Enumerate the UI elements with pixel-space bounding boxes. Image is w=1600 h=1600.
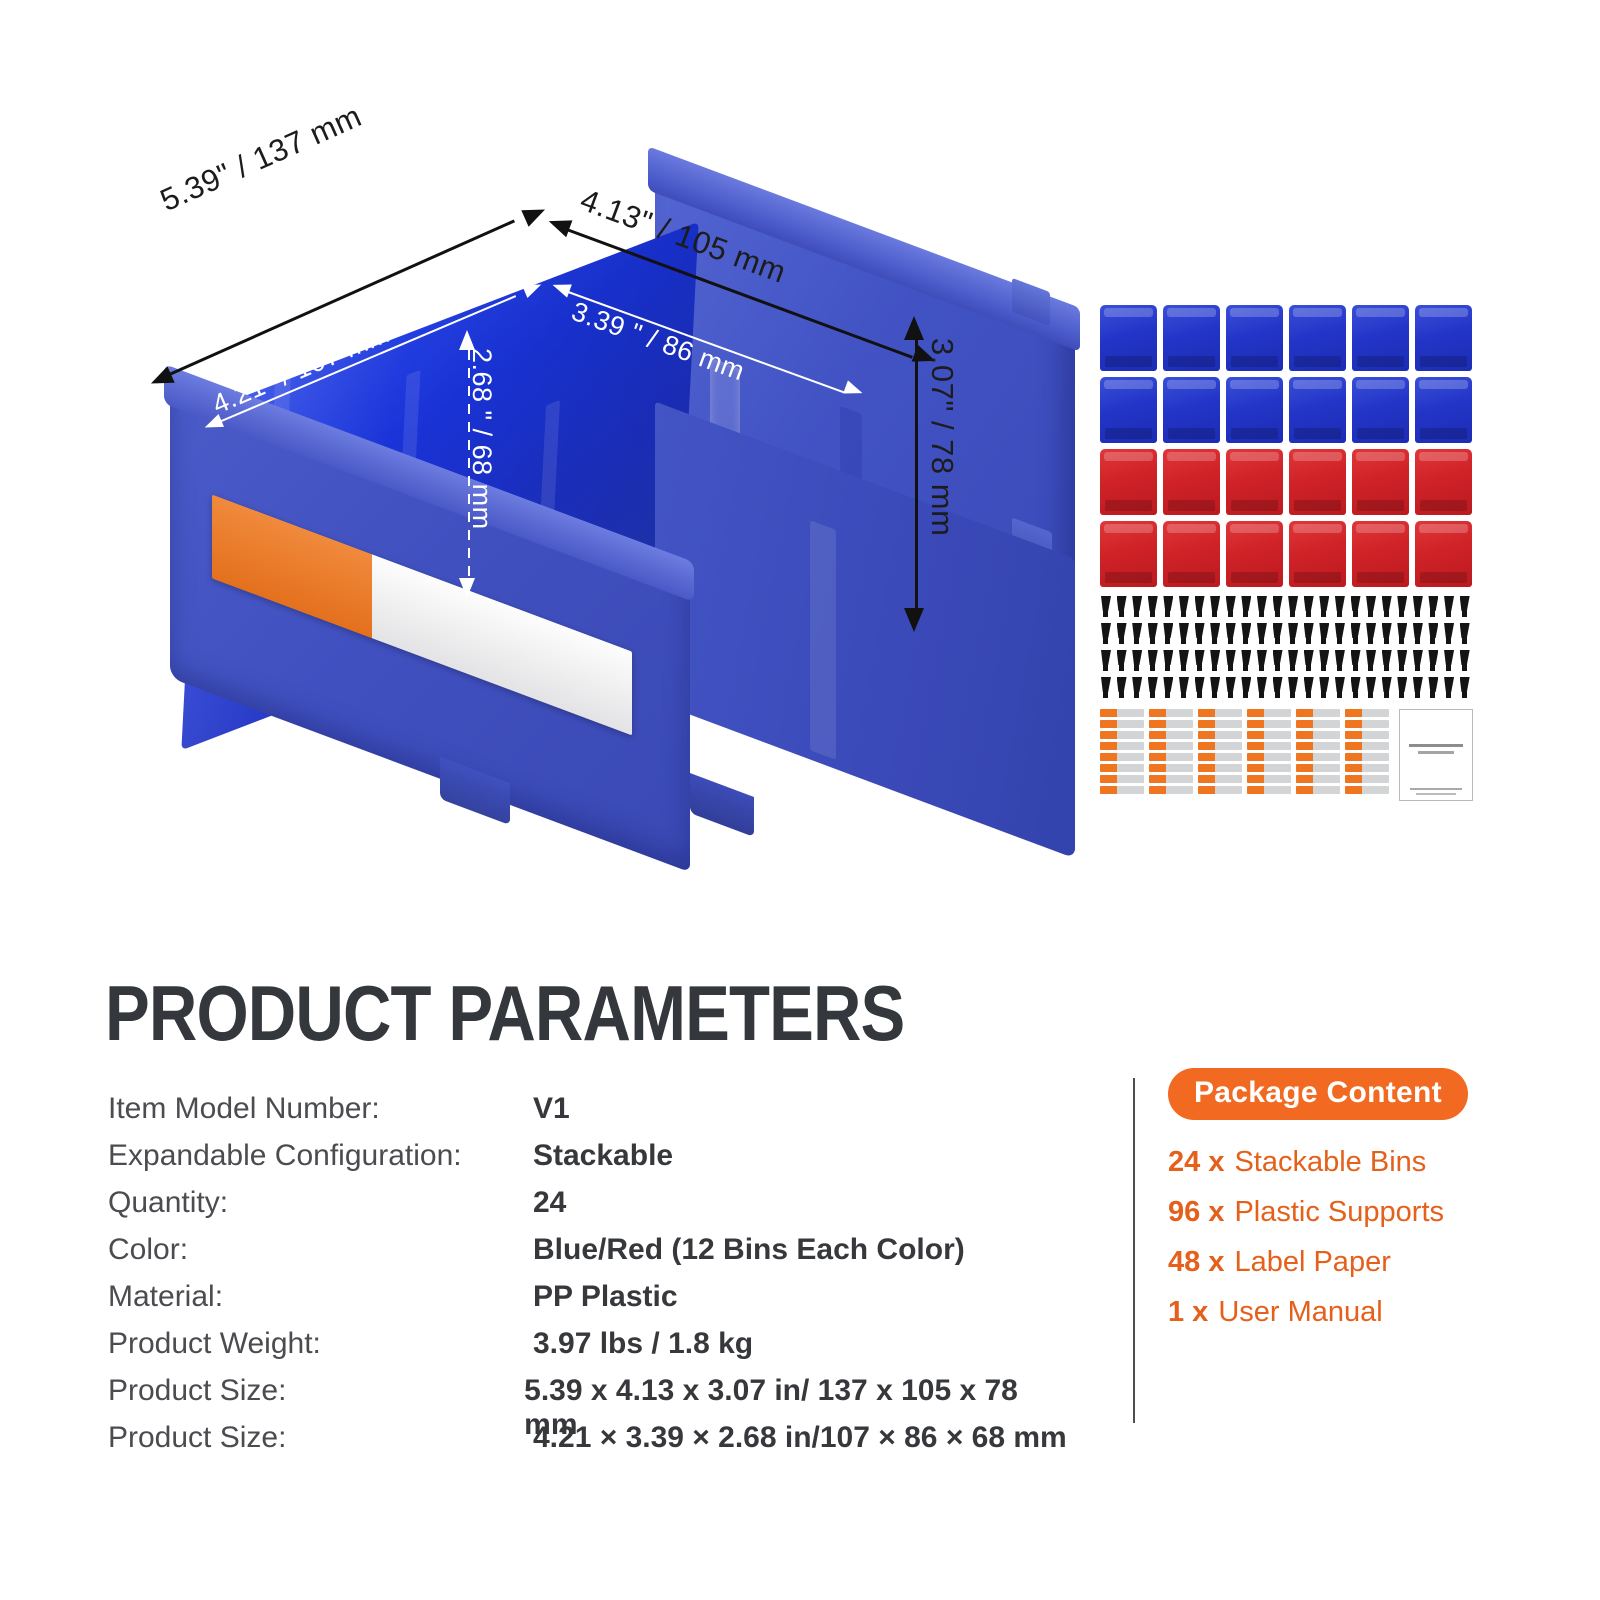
spec-row: Color:Blue/Red (12 Bins Each Color): [108, 1233, 1068, 1280]
plastic-support-icon: [1318, 596, 1334, 618]
label-orange-tab: [1247, 742, 1264, 750]
dimension-label-outer-height: 3.07" / 78 mm: [924, 338, 960, 536]
label-orange-tab: [1149, 731, 1166, 739]
label-orange-tab: [1149, 709, 1166, 717]
spec-row: Quantity:24: [108, 1186, 1068, 1233]
label-orange-tab: [1247, 731, 1264, 739]
package-content-item: 24 xStackable Bins: [1168, 1146, 1498, 1179]
plastic-support-icon: [1162, 650, 1178, 672]
label-orange-tab: [1198, 742, 1215, 750]
plastic-support-icon: [1287, 623, 1303, 645]
plastic-support-icon: [1178, 596, 1194, 618]
plastic-support-icon: [1147, 623, 1163, 645]
label-paper-column: [1100, 709, 1144, 794]
label-paper-strip: [1198, 720, 1242, 728]
label-orange-tab: [1345, 709, 1362, 717]
label-paper-strip: [1345, 731, 1389, 739]
plastic-support-icon: [1194, 596, 1210, 618]
label-paper-strip: [1100, 786, 1144, 794]
plastic-support-icon: [1350, 623, 1366, 645]
package-content-item: 1 xUser Manual: [1168, 1296, 1498, 1329]
package-item-qty: 1 x: [1168, 1296, 1208, 1329]
label-paper-strip: [1198, 786, 1242, 794]
plastic-support-icon: [1147, 677, 1163, 699]
mini-bin-red: [1163, 521, 1220, 587]
plastic-support-icon: [1459, 596, 1475, 618]
plastic-support-icon: [1318, 677, 1334, 699]
plastic-support-icon: [1162, 596, 1178, 618]
package-content-item: 96 xPlastic Supports: [1168, 1196, 1498, 1229]
label-paper-strip: [1247, 775, 1291, 783]
label-paper-strip: [1149, 709, 1193, 717]
vertical-divider: [1133, 1078, 1135, 1423]
spec-label: Expandable Configuration:: [108, 1139, 533, 1173]
spec-row: Item Model Number:V1: [108, 1092, 1068, 1139]
package-item-name: Stackable Bins: [1234, 1146, 1426, 1179]
product-photo: 5.39" / 137 mm 4.13" / 105 mm 4.21" / 10…: [0, 0, 1080, 900]
plastic-support-icon: [1427, 596, 1443, 618]
mini-bin-blue: [1352, 377, 1409, 443]
plastic-support-icon: [1396, 623, 1412, 645]
mini-bin-red: [1163, 449, 1220, 515]
label-paper-strip: [1149, 775, 1193, 783]
plastic-support-grid: [1100, 596, 1480, 699]
label-paper-strip: [1100, 709, 1144, 717]
label-paper-strip: [1296, 775, 1340, 783]
label-orange-tab: [1296, 786, 1313, 794]
plastic-support-icon: [1381, 677, 1397, 699]
plastic-support-icon: [1443, 623, 1459, 645]
label-paper-strip: [1247, 764, 1291, 772]
label-paper-strip: [1247, 709, 1291, 717]
label-paper-column: [1296, 709, 1340, 794]
spec-label: Item Model Number:: [108, 1092, 533, 1126]
label-paper-strip: [1100, 742, 1144, 750]
label-orange-tab: [1296, 720, 1313, 728]
mini-bin-blue: [1163, 377, 1220, 443]
spec-value: PP Plastic: [533, 1280, 678, 1314]
mini-bin-blue: [1100, 377, 1157, 443]
label-orange-tab: [1100, 753, 1117, 761]
plastic-support-icon: [1225, 677, 1241, 699]
plastic-support-icon: [1116, 650, 1132, 672]
label-orange-tab: [1345, 731, 1362, 739]
package-content-item: 48 xLabel Paper: [1168, 1246, 1498, 1279]
plastic-support-icon: [1100, 623, 1116, 645]
label-orange-tab: [1296, 742, 1313, 750]
package-item-qty: 24 x: [1168, 1146, 1224, 1179]
plastic-support-icon: [1365, 677, 1381, 699]
plastic-support-icon: [1381, 596, 1397, 618]
plastic-support-icon: [1178, 650, 1194, 672]
spec-value: Stackable: [533, 1139, 673, 1173]
label-paper-strip: [1149, 742, 1193, 750]
label-orange-tab: [1100, 742, 1117, 750]
label-paper-strip: [1345, 753, 1389, 761]
label-paper-strip: [1345, 720, 1389, 728]
plastic-support-icon: [1116, 677, 1132, 699]
spec-value: Blue/Red (12 Bins Each Color): [533, 1233, 965, 1267]
plastic-support-icon: [1209, 623, 1225, 645]
label-orange-tab: [1100, 731, 1117, 739]
spec-label: Product Weight:: [108, 1327, 533, 1361]
plastic-support-icon: [1131, 596, 1147, 618]
mini-bin-red: [1352, 449, 1409, 515]
label-orange-tab: [1198, 753, 1215, 761]
package-item-name: Label Paper: [1234, 1246, 1390, 1279]
package-content-list: 24 xStackable Bins96 xPlastic Supports48…: [1168, 1146, 1498, 1329]
plastic-support-icon: [1272, 677, 1288, 699]
plastic-support-icon: [1225, 596, 1241, 618]
mini-bin-red: [1352, 521, 1409, 587]
arrow-head-icon: [459, 330, 475, 350]
label-paper-strip: [1149, 764, 1193, 772]
label-orange-tab: [1198, 731, 1215, 739]
spec-row: Expandable Configuration:Stackable: [108, 1139, 1068, 1186]
label-paper-strip: [1296, 720, 1340, 728]
label-paper-strip: [1198, 742, 1242, 750]
package-content-badge: Package Content: [1168, 1068, 1468, 1120]
mini-bin-red: [1100, 449, 1157, 515]
label-orange-tab: [1100, 786, 1117, 794]
plastic-support-icon: [1100, 650, 1116, 672]
label-paper-strip: [1247, 720, 1291, 728]
spec-row: Product Weight:3.97 lbs / 1.8 kg: [108, 1327, 1068, 1374]
plastic-support-icon: [1272, 623, 1288, 645]
page-title: PRODUCT PARAMETERS: [105, 968, 904, 1059]
label-orange-tab: [1247, 720, 1264, 728]
manual-subtitle-line: [1418, 751, 1454, 754]
label-paper-strip: [1198, 753, 1242, 761]
spec-value: 3.97 lbs / 1.8 kg: [533, 1327, 753, 1361]
label-orange-tab: [1149, 786, 1166, 794]
label-orange-tab: [1247, 753, 1264, 761]
mini-bin-blue: [1289, 377, 1346, 443]
label-orange-tab: [1149, 742, 1166, 750]
mini-bin-row: [1100, 305, 1480, 371]
plastic-support-icon: [1131, 650, 1147, 672]
label-orange-tab: [1247, 764, 1264, 772]
plastic-support-icon: [1287, 677, 1303, 699]
spec-label: Color:: [108, 1233, 533, 1267]
arrow-head-icon: [904, 608, 924, 632]
label-orange-tab: [1100, 775, 1117, 783]
plastic-support-icon: [1162, 677, 1178, 699]
storage-bin-illustration: [150, 225, 940, 845]
plastic-support-icon: [1412, 677, 1428, 699]
spec-label: Product Size:: [108, 1421, 533, 1455]
plastic-support-icon: [1178, 623, 1194, 645]
label-paper-column: [1345, 709, 1389, 794]
mini-bin-row: [1100, 521, 1480, 587]
label-paper-strip: [1296, 709, 1340, 717]
label-paper-strip: [1149, 731, 1193, 739]
label-paper-strip: [1296, 753, 1340, 761]
plastic-support-icon: [1287, 596, 1303, 618]
label-paper-strip: [1345, 764, 1389, 772]
plastic-support-icon: [1116, 596, 1132, 618]
mini-bin-red: [1100, 521, 1157, 587]
label-paper-strip: [1198, 709, 1242, 717]
package-item-qty: 48 x: [1168, 1246, 1224, 1279]
mini-bin-red: [1289, 449, 1346, 515]
label-orange-tab: [1198, 786, 1215, 794]
plastic-support-icon: [1303, 623, 1319, 645]
plastic-support-icon: [1240, 623, 1256, 645]
plastic-support-icon: [1396, 677, 1412, 699]
plastic-support-icon: [1412, 650, 1428, 672]
plastic-support-icon: [1365, 596, 1381, 618]
plastic-support-icon: [1209, 596, 1225, 618]
package-content-panel: Package Content 24 xStackable Bins96 xPl…: [1168, 1068, 1498, 1346]
plastic-support-row: [1100, 623, 1480, 645]
plastic-support-icon: [1131, 677, 1147, 699]
package-contents-photo: [1100, 305, 1480, 815]
mini-bin-blue: [1226, 377, 1283, 443]
manual-footer-line: [1410, 788, 1462, 791]
plastic-support-icon: [1350, 677, 1366, 699]
label-orange-tab: [1247, 786, 1264, 794]
label-paper-strip: [1100, 753, 1144, 761]
label-paper-strip: [1296, 731, 1340, 739]
plastic-support-icon: [1334, 596, 1350, 618]
label-orange-tab: [1345, 764, 1362, 772]
plastic-support-icon: [1443, 650, 1459, 672]
label-paper-strip: [1247, 731, 1291, 739]
plastic-support-icon: [1427, 677, 1443, 699]
plastic-support-icon: [1396, 650, 1412, 672]
plastic-support-row: [1100, 677, 1480, 699]
label-paper-strip: [1296, 742, 1340, 750]
plastic-support-icon: [1240, 650, 1256, 672]
label-orange-tab: [1149, 764, 1166, 772]
label-orange-tab: [1296, 775, 1313, 783]
label-orange-tab: [1198, 709, 1215, 717]
label-paper-strip: [1345, 742, 1389, 750]
mini-bin-grid: [1100, 305, 1480, 587]
mini-bin-blue: [1100, 305, 1157, 371]
mini-bin-red: [1415, 449, 1472, 515]
plastic-support-icon: [1412, 596, 1428, 618]
mini-bin-red: [1226, 521, 1283, 587]
plastic-support-icon: [1334, 623, 1350, 645]
label-orange-tab: [1345, 742, 1362, 750]
plastic-support-icon: [1209, 650, 1225, 672]
plastic-support-icon: [1318, 650, 1334, 672]
label-orange-tab: [1100, 720, 1117, 728]
mini-bin-blue: [1289, 305, 1346, 371]
label-paper-strip: [1100, 731, 1144, 739]
bin-foot: [690, 773, 754, 837]
plastic-support-icon: [1240, 677, 1256, 699]
plastic-support-icon: [1334, 650, 1350, 672]
plastic-support-icon: [1318, 623, 1334, 645]
arrow-head-icon: [521, 201, 548, 226]
plastic-support-icon: [1147, 596, 1163, 618]
mini-bin-blue: [1163, 305, 1220, 371]
plastic-support-icon: [1459, 650, 1475, 672]
plastic-support-icon: [1178, 677, 1194, 699]
label-paper-strip: [1247, 742, 1291, 750]
label-orange-tab: [1247, 709, 1264, 717]
label-paper-column: [1198, 709, 1242, 794]
mini-bin-blue: [1226, 305, 1283, 371]
plastic-support-icon: [1225, 623, 1241, 645]
plastic-support-icon: [1287, 650, 1303, 672]
label-paper-strip: [1100, 720, 1144, 728]
label-paper-strip: [1149, 753, 1193, 761]
plastic-support-row: [1100, 596, 1480, 618]
spec-value: 4.21 × 3.39 × 2.68 in/107 × 86 × 68 mm: [533, 1421, 1067, 1455]
package-item-name: User Manual: [1218, 1296, 1382, 1329]
label-paper-strip: [1100, 775, 1144, 783]
plastic-support-icon: [1427, 650, 1443, 672]
label-orange-tab: [1198, 720, 1215, 728]
plastic-support-icon: [1365, 623, 1381, 645]
mini-bin-red: [1226, 449, 1283, 515]
spec-row: Material:PP Plastic: [108, 1280, 1068, 1327]
manual-footer-line: [1416, 793, 1456, 796]
plastic-support-icon: [1272, 596, 1288, 618]
user-manual-page: [1399, 709, 1473, 801]
label-orange-tab: [1100, 709, 1117, 717]
plastic-support-icon: [1443, 596, 1459, 618]
label-paper-strip: [1100, 764, 1144, 772]
label-orange-tab: [1296, 753, 1313, 761]
plastic-support-icon: [1194, 677, 1210, 699]
plastic-support-icon: [1365, 650, 1381, 672]
plastic-support-icon: [1147, 650, 1163, 672]
label-orange-tab: [1296, 731, 1313, 739]
spec-row: Product Size:4.21 × 3.39 × 2.68 in/107 ×…: [108, 1421, 1068, 1468]
plastic-support-icon: [1334, 677, 1350, 699]
plastic-support-icon: [1116, 623, 1132, 645]
label-orange-tab: [1296, 764, 1313, 772]
plastic-support-icon: [1381, 623, 1397, 645]
mini-bin-row: [1100, 449, 1480, 515]
label-orange-tab: [1345, 720, 1362, 728]
mini-bin-blue: [1415, 305, 1472, 371]
plastic-support-icon: [1194, 623, 1210, 645]
spec-label: Quantity:: [108, 1186, 533, 1220]
label-orange-tab: [1296, 709, 1313, 717]
label-paper-column: [1149, 709, 1193, 794]
plastic-support-icon: [1100, 677, 1116, 699]
plastic-support-icon: [1162, 623, 1178, 645]
spec-row: Product Size:5.39 x 4.13 x 3.07 in/ 137 …: [108, 1374, 1068, 1421]
label-paper-strip: [1198, 764, 1242, 772]
dimension-line-outer-height: [915, 340, 918, 620]
label-paper-strip: [1198, 731, 1242, 739]
label-orange-tab: [1345, 786, 1362, 794]
plastic-support-icon: [1303, 596, 1319, 618]
plastic-support-icon: [1350, 596, 1366, 618]
label-paper-strip: [1345, 775, 1389, 783]
label-paper-strip: [1296, 764, 1340, 772]
label-orange-tab: [1149, 775, 1166, 783]
dimension-label-inner-height: 2.68 " / 68 mm: [466, 348, 497, 530]
label-paper-strip: [1247, 786, 1291, 794]
plastic-support-icon: [1396, 596, 1412, 618]
label-orange-tab: [1149, 720, 1166, 728]
label-paper-strip: [1247, 753, 1291, 761]
spec-label: Material:: [108, 1280, 533, 1314]
label-paper-strip: [1149, 720, 1193, 728]
plastic-support-icon: [1256, 623, 1272, 645]
mini-bin-red: [1415, 521, 1472, 587]
plastic-support-icon: [1272, 650, 1288, 672]
plastic-support-icon: [1194, 650, 1210, 672]
label-paper-grid: [1100, 709, 1389, 794]
label-paper-strip: [1149, 786, 1193, 794]
plastic-support-icon: [1256, 596, 1272, 618]
label-paper-strip: [1198, 775, 1242, 783]
plastic-support-icon: [1209, 677, 1225, 699]
plastic-support-icon: [1225, 650, 1241, 672]
label-paper-strip: [1296, 786, 1340, 794]
spec-value: 24: [533, 1186, 566, 1220]
plastic-support-icon: [1100, 596, 1116, 618]
mini-bin-red: [1289, 521, 1346, 587]
mini-bin-row: [1100, 377, 1480, 443]
arrow-head-icon: [459, 578, 475, 598]
label-orange-tab: [1345, 775, 1362, 783]
plastic-support-icon: [1303, 650, 1319, 672]
plastic-support-icon: [1350, 650, 1366, 672]
label-paper-column: [1247, 709, 1291, 794]
label-paper-and-manual: [1100, 709, 1480, 801]
plastic-support-icon: [1427, 623, 1443, 645]
bin-side-groove: [810, 520, 836, 760]
label-orange-tab: [1198, 775, 1215, 783]
plastic-support-icon: [1131, 623, 1147, 645]
plastic-support-icon: [1459, 677, 1475, 699]
plastic-support-icon: [1443, 677, 1459, 699]
package-item-name: Plastic Supports: [1234, 1196, 1444, 1229]
label-orange-tab: [1149, 753, 1166, 761]
mini-bin-blue: [1352, 305, 1409, 371]
arrow-head-icon: [904, 316, 924, 340]
package-item-qty: 96 x: [1168, 1196, 1224, 1229]
plastic-support-row: [1100, 650, 1480, 672]
label-orange-tab: [1345, 753, 1362, 761]
dimension-label-outer-length: 5.39" / 137 mm: [155, 98, 367, 219]
label-orange-tab: [1100, 764, 1117, 772]
plastic-support-icon: [1303, 677, 1319, 699]
plastic-support-icon: [1412, 623, 1428, 645]
label-orange-tab: [1247, 775, 1264, 783]
plastic-support-icon: [1256, 677, 1272, 699]
label-paper-strip: [1345, 786, 1389, 794]
specification-table: Item Model Number:V1Expandable Configura…: [108, 1092, 1068, 1468]
manual-title-line: [1409, 744, 1463, 747]
plastic-support-icon: [1459, 623, 1475, 645]
spec-label: Product Size:: [108, 1374, 524, 1408]
plastic-support-icon: [1381, 650, 1397, 672]
mini-bin-blue: [1415, 377, 1472, 443]
plastic-support-icon: [1256, 650, 1272, 672]
product-spec-page: 5.39" / 137 mm 4.13" / 105 mm 4.21" / 10…: [0, 0, 1600, 1600]
plastic-support-icon: [1240, 596, 1256, 618]
label-orange-tab: [1198, 764, 1215, 772]
label-paper-strip: [1345, 709, 1389, 717]
spec-value: V1: [533, 1092, 570, 1126]
